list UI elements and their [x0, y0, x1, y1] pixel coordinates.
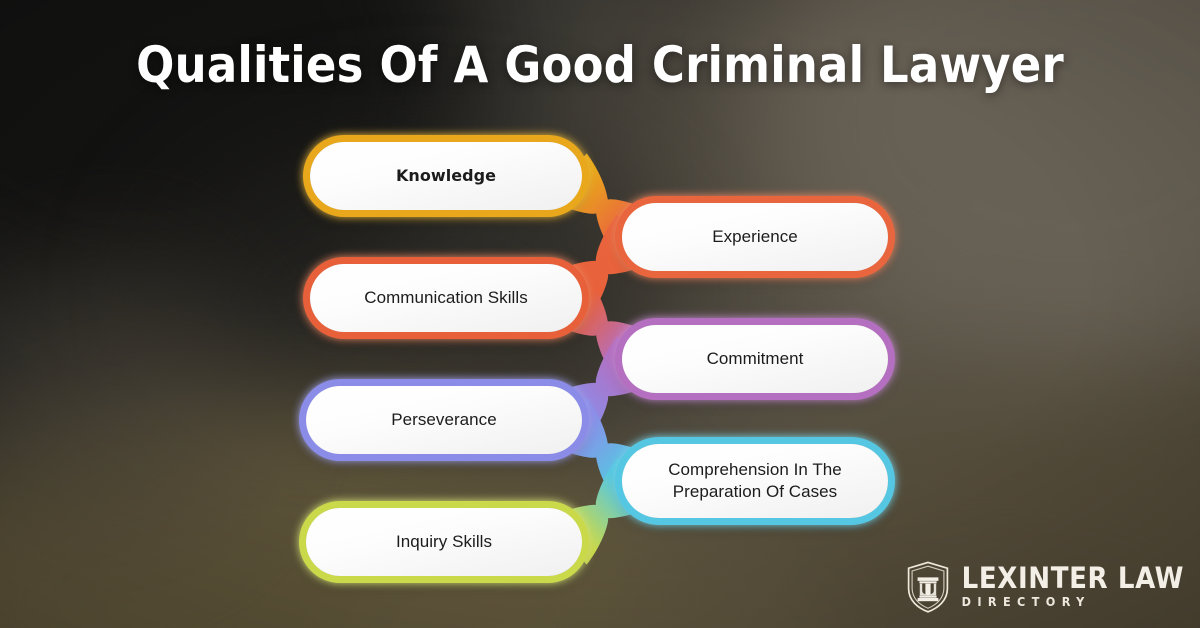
quality-pill[interactable]: Knowledge	[310, 142, 582, 210]
quality-pill-label: Knowledge	[396, 166, 496, 186]
infographic-canvas: Qualities Of A Good Criminal Lawyer Know…	[0, 0, 1200, 628]
quality-pill[interactable]: Communication Skills	[310, 264, 582, 332]
logo-name: LEXINTER LAW	[962, 565, 1184, 593]
quality-pill[interactable]: Experience	[622, 203, 888, 271]
shield-column-icon	[905, 560, 951, 614]
quality-pill-label: Comprehension In The Preparation Of Case…	[668, 459, 842, 503]
quality-pill-label: Communication Skills	[364, 287, 528, 309]
brand-logo[interactable]: LEXINTER LAW DIRECTORY	[905, 560, 1184, 614]
quality-pill-label: Experience	[712, 226, 798, 248]
quality-pill-label: Commitment	[707, 348, 804, 370]
quality-pill-label: Perseverance	[391, 409, 497, 431]
pill-layer: KnowledgeExperienceCommunication SkillsC…	[0, 0, 1200, 628]
quality-pill[interactable]: Perseverance	[306, 386, 582, 454]
quality-pill[interactable]: Commitment	[622, 325, 888, 393]
quality-pill[interactable]: Inquiry Skills	[306, 508, 582, 576]
quality-pill-label: Inquiry Skills	[396, 531, 492, 553]
logo-wordmark: LEXINTER LAW DIRECTORY	[962, 565, 1184, 608]
qualities-diagram: KnowledgeExperienceCommunication SkillsC…	[0, 0, 1200, 628]
logo-subtitle: DIRECTORY	[962, 596, 1184, 609]
quality-pill[interactable]: Comprehension In The Preparation Of Case…	[622, 444, 888, 518]
